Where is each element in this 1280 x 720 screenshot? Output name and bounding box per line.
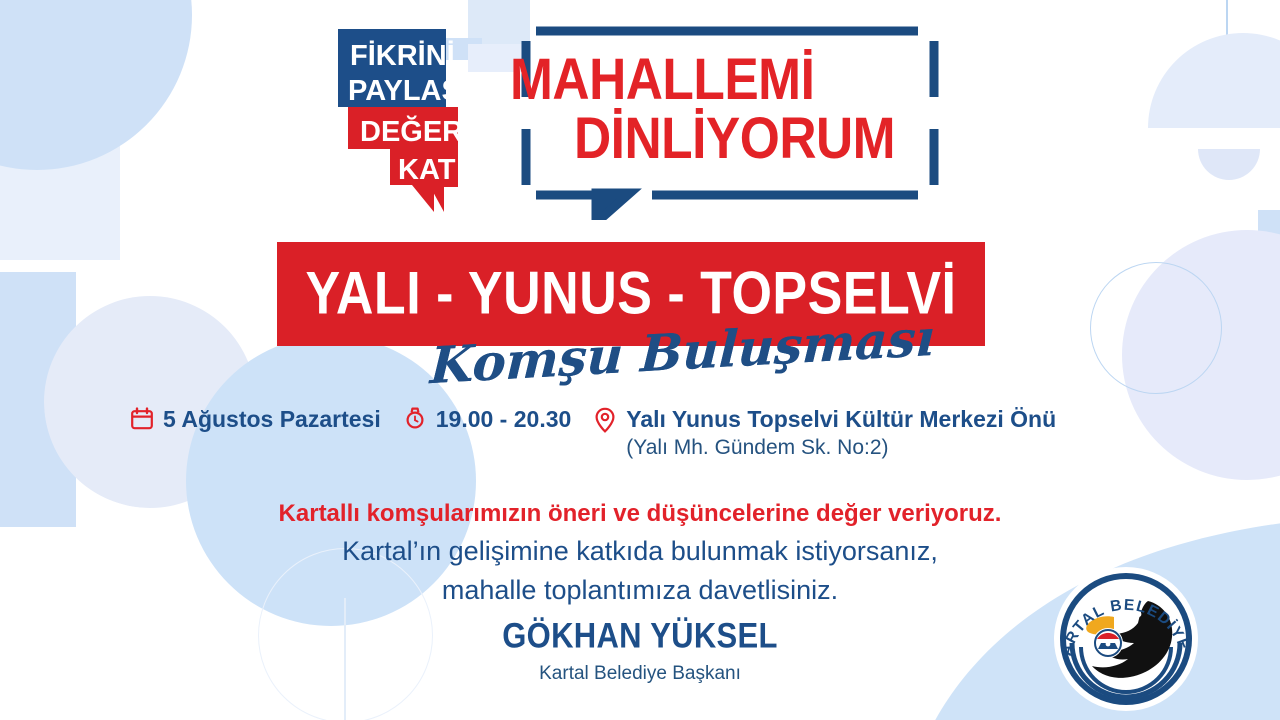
headline-line-1: MAHALLEMİ [510,53,936,108]
invitation-highlight: Kartallı komşularımızın öneri ve düşünce… [0,498,1280,530]
decor-square-left [0,272,76,527]
event-date-text: 5 Ağustos Pazartesi [163,405,381,433]
event-location-item: Yalı Yunus Topselvi Kültür Merkezi Önü (… [593,405,1056,461]
calendar-icon [130,407,154,431]
decor-dome-top-right [1148,33,1280,223]
campaign-line-3: DEĞER [360,114,462,148]
decor-square-top-left [0,0,120,260]
decor-circle-top-left [0,0,192,170]
decor-ring-right [1090,262,1222,394]
invitation-line-1: Kartal’ın gelişimine katkıda bulunmak is… [0,533,1280,569]
event-meta-row: 5 Ağustos Pazartesi 19.00 - 20.30 Yalı Y… [130,405,1160,461]
event-location-group: Yalı Yunus Topselvi Kültür Merkezi Önü (… [626,405,1056,461]
event-location-text: Yalı Yunus Topselvi Kültür Merkezi Önü [626,405,1056,433]
headline-text-group: MAHALLEMİ DİNLİYORUM [520,25,940,195]
poster-canvas: FİKRİNİ PAYLAŞ DEĞER KAT MAHALLEMİ DİNLİ [0,0,1280,720]
decor-line-top-right [1226,0,1228,82]
decor-rounded-left [44,296,256,508]
campaign-line-1: FİKRİNİ [350,40,455,72]
kartal-belediyesi-emblem-icon: KARTAL BELEDİYESİ [1052,565,1200,713]
kartal-belediyesi-logo: KARTAL BELEDİYESİ [1052,565,1200,713]
headline-speech-bubble: MAHALLEMİ DİNLİYORUM [520,25,940,220]
mayor-name: GÖKHAN YÜKSEL [502,615,777,656]
campaign-line-2: PAYLAŞ [348,75,461,107]
campaign-line-4: KAT [398,154,456,186]
event-date-item: 5 Ağustos Pazartesi [130,405,381,433]
decor-dome-small-top-right [1198,118,1260,180]
event-time-item: 19.00 - 20.30 [403,405,572,433]
event-time-text: 19.00 - 20.30 [436,405,572,433]
event-location-detail: (Yalı Mh. Gündem Sk. No:2) [626,435,1056,461]
clock-icon [403,407,427,431]
decor-bar-right [1258,210,1280,365]
campaign-logo-svg: FİKRİNİ PAYLAŞ DEĞER KAT [334,27,462,212]
headline-line-2: DİNLİYORUM [574,112,936,167]
campaign-logo: FİKRİNİ PAYLAŞ DEĞER KAT [334,27,462,212]
map-pin-icon [593,407,617,433]
